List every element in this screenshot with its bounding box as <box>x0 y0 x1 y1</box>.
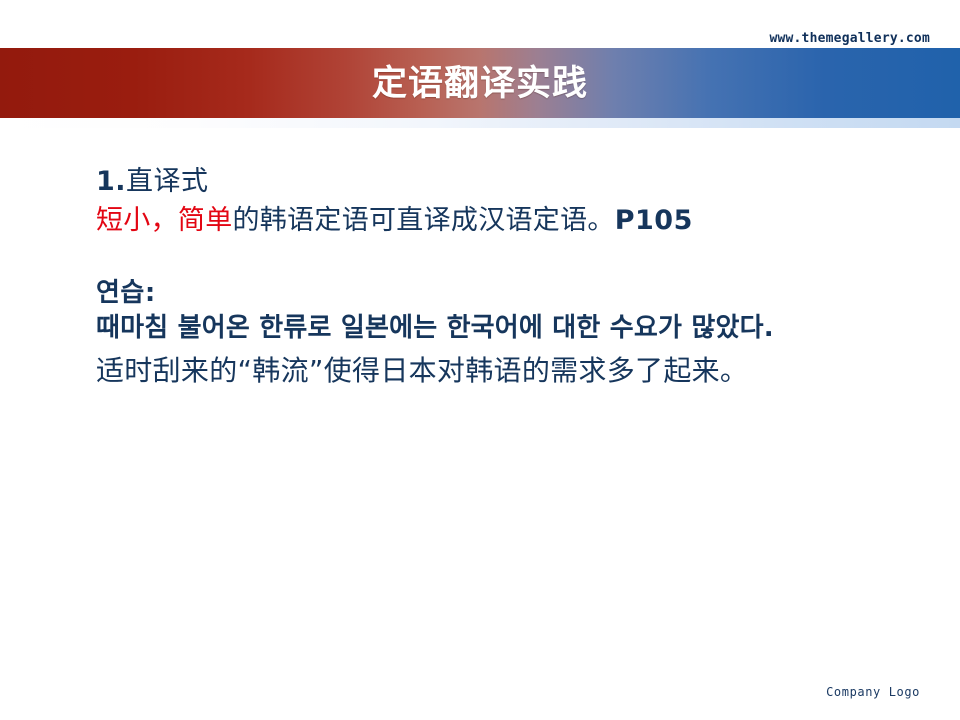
exercise-korean-sentence: 때마침 불어온 한류로 일본에는 한국어에 대한 수요가 많았다. <box>96 312 922 345</box>
company-logo-text: Company Logo <box>826 685 920 699</box>
rule-page-reference: P105 <box>615 205 693 236</box>
slide-canvas: www.themegallery.com 定语翻译实践 1.直译式 短小，简单的… <box>0 0 960 720</box>
heading-line: 1.直译式 <box>96 163 896 201</box>
rule-highlight-text: 短小，简单 <box>96 205 233 236</box>
title-band-underline <box>0 118 960 128</box>
rule-rest-text: 的韩语定语可直译成汉语定语。 <box>233 205 615 236</box>
page-title: 定语翻译实践 <box>0 62 960 106</box>
exercise-label: 연습: <box>96 274 896 312</box>
heading-label: 直译式 <box>126 166 209 197</box>
slide-body: 1.直译式 短小，简单的韩语定语可直译成汉语定语。P105 연습: 때마침 불어… <box>96 163 896 393</box>
body-spacer <box>96 241 896 274</box>
rule-line: 短小，简单的韩语定语可直译成汉语定语。P105 <box>96 201 896 241</box>
site-url-text: www.themegallery.com <box>769 31 930 46</box>
heading-number: 1. <box>96 166 126 197</box>
exercise-chinese-translation: 适时刮来的“韩流”使得日本对韩语的需求多了起来。 <box>96 345 896 393</box>
